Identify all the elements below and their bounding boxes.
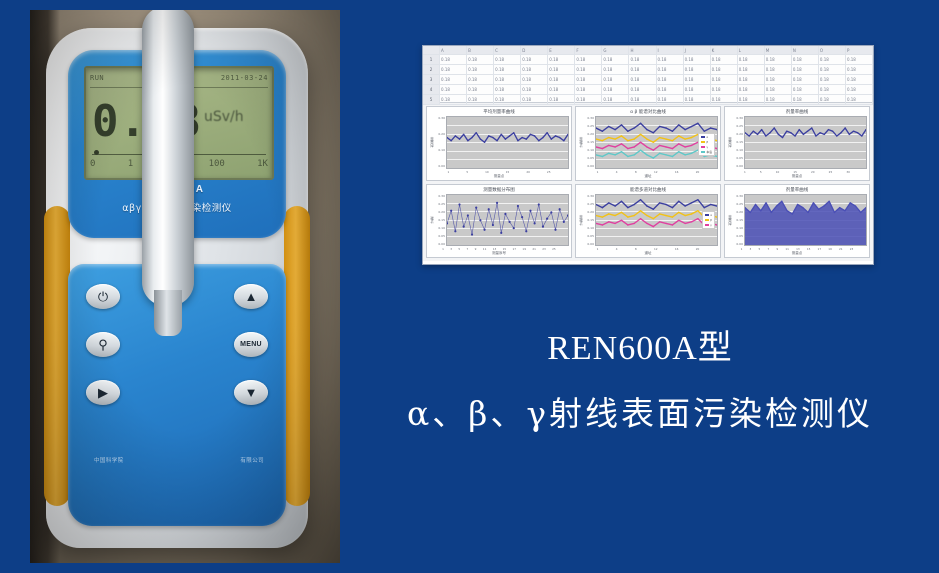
- spreadsheet-cell[interactable]: 0.18: [765, 55, 792, 64]
- spreadsheet-cell[interactable]: 0.18: [440, 65, 467, 74]
- chart-y-ticks: 0.300.200.100.00: [434, 116, 446, 169]
- chart-point: [653, 208, 654, 210]
- spreadsheet-column-header[interactable]: G: [602, 46, 629, 54]
- chart-point: [492, 137, 493, 139]
- chart-point: [526, 138, 527, 140]
- chart-point: [684, 222, 685, 224]
- chart-point: [849, 134, 850, 136]
- chart-point: [475, 132, 476, 134]
- chart-y-tick: 0.10: [583, 148, 594, 152]
- chart-y-tick: 0.00: [583, 164, 594, 168]
- chart-point: [621, 124, 622, 126]
- spreadsheet-cell[interactable]: 0.18: [575, 95, 602, 104]
- chart-point: [653, 132, 654, 134]
- chart-legend-item: β: [705, 218, 712, 222]
- chart-point: [513, 132, 514, 134]
- chart-point: [640, 217, 641, 219]
- chart-legend-label: α: [706, 135, 708, 139]
- chart-y-tick: 0.10: [732, 148, 743, 152]
- spreadsheet-row-header[interactable]: 5: [423, 95, 440, 104]
- chart-point: [509, 135, 510, 137]
- spreadsheet-cell[interactable]: 0.18: [657, 85, 684, 94]
- spreadsheet-cell[interactable]: 0.18: [684, 85, 711, 94]
- chart-point: [621, 135, 622, 137]
- spreadsheet-cell[interactable]: 0.18: [629, 55, 656, 64]
- chart-point: [602, 148, 603, 150]
- chart-point: [640, 198, 641, 200]
- chart-legend-item: γ: [705, 223, 712, 227]
- chart-y-tick: 0.00: [583, 242, 594, 246]
- chart-point: [797, 203, 798, 205]
- chart-body: 计数0.300.250.200.150.100.050.00: [427, 193, 571, 248]
- spreadsheet-column-header[interactable]: F: [575, 46, 602, 54]
- spreadsheet-row-header[interactable]: 4: [423, 85, 440, 94]
- spreadsheet-cell[interactable]: 0.18: [440, 55, 467, 64]
- spreadsheet-cell[interactable]: 0.18: [494, 75, 521, 84]
- chart-point: [542, 137, 543, 139]
- chart-point: [646, 129, 647, 131]
- spreadsheet-cell[interactable]: 0.18: [629, 95, 656, 104]
- chart-point: [778, 134, 779, 136]
- chart-plot-area: [446, 194, 569, 247]
- spreadsheet-cell[interactable]: 0.18: [711, 55, 738, 64]
- spreadsheet-cell[interactable]: 0.18: [792, 95, 819, 104]
- spreadsheet-cell[interactable]: 0.18: [602, 95, 629, 104]
- chart-series-svg: [745, 195, 866, 246]
- spreadsheet-column-header[interactable]: B: [467, 46, 494, 54]
- chart-plot-area: αβγ本底: [595, 116, 718, 169]
- spreadsheet-cell[interactable]: 0.18: [575, 75, 602, 84]
- chart-card[interactable]: 剂量率曲线剂量率0.300.250.200.150.100.050.001357…: [724, 184, 870, 259]
- chart-point: [621, 211, 622, 213]
- chart-point: [697, 123, 698, 125]
- chart-point: [614, 138, 615, 140]
- chart-point: [633, 146, 634, 148]
- chart-point: [602, 206, 603, 208]
- chart-point: [757, 134, 758, 136]
- spreadsheet-header-row: ABCDEFGHIJKLMNOP: [423, 46, 873, 55]
- spreadsheet-cell[interactable]: 0.18: [792, 65, 819, 74]
- chart-point: [776, 205, 777, 207]
- spreadsheet-column-header[interactable]: I: [657, 46, 684, 54]
- spreadsheet-cell[interactable]: 0.18: [440, 95, 467, 104]
- chart-point: [769, 132, 770, 134]
- chart-point: [672, 130, 673, 132]
- chart-point: [653, 141, 654, 143]
- chart-line: [596, 199, 717, 208]
- spreadsheet-cell[interactable]: 0.18: [711, 85, 738, 94]
- chart-point: [691, 221, 692, 223]
- spreadsheet-column-header[interactable]: M: [765, 46, 792, 54]
- chart-point: [813, 202, 814, 204]
- spreadsheet-cell[interactable]: 0.18: [494, 95, 521, 104]
- spreadsheet-cell[interactable]: 0.18: [738, 95, 765, 104]
- spreadsheet-row: 30.180.180.180.180.180.180.180.180.180.1…: [423, 75, 873, 85]
- chart-card[interactable]: 能谱多道对比曲线计数率0.300.250.200.150.100.050.00α…: [575, 184, 721, 259]
- spreadsheet-column-header[interactable]: C: [494, 46, 521, 54]
- chart-x-axis-label: 测量序号: [427, 251, 571, 257]
- spreadsheet-cell[interactable]: 0.18: [657, 95, 684, 104]
- chart-point: [665, 203, 666, 205]
- chart-point: [697, 210, 698, 212]
- chart-y-tick: 0.30: [583, 194, 594, 198]
- chart-point: [538, 140, 539, 142]
- spreadsheet-cell[interactable]: 0.18: [819, 95, 846, 104]
- chart-point: [834, 211, 835, 213]
- chart-legend-label: 本底: [706, 150, 712, 154]
- chart-y-tick: 0.20: [434, 210, 445, 214]
- chart-legend-swatch: [705, 214, 709, 216]
- spreadsheet-cell[interactable]: 0.18: [684, 55, 711, 64]
- chart-point: [633, 127, 634, 129]
- spreadsheet-cell[interactable]: 0.18: [684, 75, 711, 84]
- chart-title: 能谱多道对比曲线: [576, 185, 720, 193]
- chart-legend-label: γ: [706, 145, 708, 149]
- spreadsheet-cell[interactable]: 0.18: [575, 65, 602, 74]
- chart-point: [781, 200, 782, 202]
- spreadsheet-cell[interactable]: 0.18: [521, 75, 548, 84]
- chart-y-tick: 0.10: [434, 226, 445, 230]
- chart-point: [653, 157, 654, 159]
- spreadsheet-column-header[interactable]: D: [521, 46, 548, 54]
- chart-point: [608, 213, 609, 215]
- chart-point: [640, 149, 641, 151]
- spreadsheet-cell[interactable]: 0.18: [602, 85, 629, 94]
- spreadsheet-cell[interactable]: 0.18: [819, 85, 846, 94]
- chart-legend-label: γ: [710, 223, 712, 227]
- chart-point: [855, 205, 856, 207]
- chart-point: [678, 219, 679, 221]
- chart-y-tick: 0.25: [583, 124, 594, 128]
- chart-series-svg: [745, 117, 866, 168]
- chart-point: [672, 206, 673, 208]
- chart-point: [672, 224, 673, 226]
- chart-point: [633, 222, 634, 224]
- chart-point: [602, 140, 603, 142]
- spreadsheet-cell[interactable]: 0.18: [602, 55, 629, 64]
- chart-title: 剂量率曲线: [725, 107, 869, 115]
- spreadsheet-cell[interactable]: 0.18: [629, 65, 656, 74]
- spreadsheet-cell[interactable]: 0.18: [440, 75, 467, 84]
- chart-point: [840, 132, 841, 134]
- chart-body: 剂量率0.300.250.200.150.100.050.00: [725, 115, 869, 170]
- chart-y-tick: 0.20: [583, 132, 594, 136]
- spreadsheet-cell[interactable]: 0.18: [440, 85, 467, 94]
- chart-point: [678, 135, 679, 137]
- chart-y-tick: 0.10: [434, 148, 445, 152]
- chart-point: [782, 137, 783, 139]
- spreadsheet-cell[interactable]: 0.18: [738, 75, 765, 84]
- chart-point: [665, 154, 666, 156]
- chart-legend-item: γ: [701, 145, 712, 149]
- chart-point: [659, 126, 660, 128]
- chart-point: [633, 154, 634, 156]
- spreadsheet-cell[interactable]: 0.18: [467, 85, 494, 94]
- chart-point: [697, 198, 698, 200]
- chart-y-tick: 0.10: [732, 226, 743, 230]
- spreadsheet-cell[interactable]: 0.18: [846, 95, 873, 104]
- chart-point: [799, 129, 800, 131]
- spreadsheet-cell[interactable]: 0.18: [711, 65, 738, 74]
- chart-point: [684, 129, 685, 131]
- spreadsheet-cell[interactable]: 0.18: [657, 55, 684, 64]
- chart-y-ticks: 0.300.250.200.150.100.050.00: [583, 194, 595, 247]
- spreadsheet-column-header[interactable]: L: [738, 46, 765, 54]
- chart-point: [627, 224, 628, 226]
- spreadsheet-cell[interactable]: 0.18: [602, 75, 629, 84]
- chart-point: [653, 217, 654, 219]
- spreadsheet-cell[interactable]: 0.18: [575, 85, 602, 94]
- chart-y-tick: 0.20: [434, 132, 445, 136]
- spreadsheet-column-header[interactable]: K: [711, 46, 738, 54]
- chart-point: [659, 202, 660, 204]
- chart-point: [704, 206, 705, 208]
- chart-line: [447, 133, 568, 142]
- chart-y-tick: 0.05: [583, 234, 594, 238]
- chart-point: [748, 135, 749, 137]
- chart-x-axis-label: 测量点: [725, 174, 869, 180]
- chart-point: [627, 216, 628, 218]
- chart-plot-area: [446, 116, 569, 169]
- chart-point: [614, 129, 615, 131]
- chart-point: [665, 214, 666, 216]
- chart-point: [559, 137, 560, 139]
- chart-point: [678, 124, 679, 126]
- spreadsheet-cell[interactable]: 0.18: [792, 85, 819, 94]
- chart-point: [627, 148, 628, 150]
- spreadsheet-row: 40.180.180.180.180.180.180.180.180.180.1…: [423, 85, 873, 95]
- spreadsheet-row: 50.180.180.180.180.180.180.180.180.180.1…: [423, 95, 873, 105]
- chart-title: 测量数据分布图: [427, 185, 571, 193]
- chart-point: [450, 140, 451, 142]
- spreadsheet-cell[interactable]: 0.18: [657, 75, 684, 84]
- chart-point: [608, 153, 609, 155]
- chart-point: [653, 225, 654, 227]
- spreadsheet-cell[interactable]: 0.18: [819, 65, 846, 74]
- chart-legend: αβγ: [702, 211, 715, 229]
- chart-point: [794, 135, 795, 137]
- spreadsheet-cell[interactable]: 0.18: [575, 55, 602, 64]
- chart-point: [608, 221, 609, 223]
- chart-point: [803, 134, 804, 136]
- chart-y-tick: 0.00: [434, 242, 445, 246]
- chart-point: [534, 135, 535, 137]
- spreadsheet-cell[interactable]: 0.18: [548, 65, 575, 74]
- chart-plot-area: [744, 194, 867, 247]
- spreadsheet-cell[interactable]: 0.18: [629, 75, 656, 84]
- chart-body: 剂量率0.300.200.100.00: [427, 115, 571, 170]
- chart-point: [463, 134, 464, 136]
- chart-y-tick: 0.15: [583, 140, 594, 144]
- chart-y-tick: 0.00: [434, 164, 445, 168]
- chart-x-axis-label: 道址: [576, 251, 720, 257]
- spreadsheet-column-header[interactable]: P: [846, 46, 873, 54]
- spreadsheet-cell[interactable]: 0.18: [792, 75, 819, 84]
- chart-point: [811, 127, 812, 129]
- spreadsheet-cell[interactable]: 0.18: [711, 75, 738, 84]
- chart-point: [857, 132, 858, 134]
- chart-point: [640, 210, 641, 212]
- spreadsheet-cell[interactable]: 0.18: [765, 65, 792, 74]
- spreadsheet-column-header[interactable]: O: [819, 46, 846, 54]
- chart-point: [832, 130, 833, 132]
- spreadsheet-cell[interactable]: 0.18: [738, 65, 765, 74]
- chart-point: [691, 202, 692, 204]
- chart-legend-item: 本底: [701, 150, 712, 154]
- chart-card[interactable]: 平均剂量率曲线剂量率0.300.200.100.001510152025测量点: [426, 106, 572, 181]
- chart-y-tick: 0.30: [434, 194, 445, 198]
- spreadsheet-cell[interactable]: 0.18: [819, 55, 846, 64]
- spreadsheet-cell[interactable]: 0.18: [684, 95, 711, 104]
- chart-line: [596, 123, 717, 132]
- chart-y-tick: 0.15: [434, 218, 445, 222]
- spreadsheet-cell[interactable]: 0.18: [846, 75, 873, 84]
- chart-point: [860, 211, 861, 213]
- spreadsheet-row-header[interactable]: 2: [423, 65, 440, 74]
- chart-point: [672, 216, 673, 218]
- spreadsheet-cell[interactable]: 0.18: [548, 75, 575, 84]
- chart-card[interactable]: α β 能谱对比曲线计数率0.300.250.200.150.100.050.0…: [575, 106, 721, 181]
- chart-legend-item: β: [701, 140, 712, 144]
- chart-y-tick: 0.00: [732, 242, 743, 246]
- chart-point: [621, 200, 622, 202]
- spreadsheet-corner: [423, 46, 440, 54]
- chart-point: [551, 138, 552, 140]
- spreadsheet-cell[interactable]: 0.18: [494, 65, 521, 74]
- chart-grid: 平均剂量率曲线剂量率0.300.200.100.001510152025测量点α…: [423, 103, 873, 261]
- chart-point: [678, 211, 679, 213]
- chart-point: [640, 123, 641, 125]
- chart-point: [665, 138, 666, 140]
- chart-point: [563, 140, 564, 142]
- chart-point: [484, 141, 485, 143]
- poster-canvas: RUN 2011-03-24 0.18 uSv/h 0 1 10 100: [0, 0, 939, 573]
- spreadsheet-cell[interactable]: 0.18: [467, 75, 494, 84]
- spreadsheet-column-header[interactable]: N: [792, 46, 819, 54]
- spreadsheet-cell[interactable]: 0.18: [548, 55, 575, 64]
- spreadsheet-cell[interactable]: 0.18: [819, 75, 846, 84]
- chart-legend-item: α: [705, 213, 712, 217]
- chart-point: [501, 134, 502, 136]
- chart-point: [786, 210, 787, 212]
- chart-card[interactable]: 测量数据分布图计数0.300.250.200.150.100.050.00135…: [426, 184, 572, 259]
- spreadsheet-cell[interactable]: 0.18: [765, 85, 792, 94]
- spreadsheet-cell[interactable]: 0.18: [711, 95, 738, 104]
- chart-body: 计数率0.300.250.200.150.100.050.00αβγ: [576, 193, 720, 248]
- spreadsheet-row-header[interactable]: 3: [423, 75, 440, 84]
- spreadsheet-cell[interactable]: 0.18: [467, 95, 494, 104]
- spreadsheet-cell[interactable]: 0.18: [494, 55, 521, 64]
- spreadsheet-cell[interactable]: 0.18: [548, 95, 575, 104]
- chart-point: [765, 202, 766, 204]
- chart-point: [771, 211, 772, 213]
- spreadsheet-grid: ABCDEFGHIJKLMNOP10.180.180.180.180.180.1…: [423, 46, 873, 103]
- product-photo: RUN 2011-03-24 0.18 uSv/h 0 1 10 100: [30, 10, 340, 563]
- caption-line-1: REN600A型: [360, 320, 920, 369]
- chart-point: [614, 154, 615, 156]
- chart-point: [755, 203, 756, 205]
- spreadsheet-cell[interactable]: 0.18: [846, 55, 873, 64]
- chart-y-tick: 0.00: [732, 164, 743, 168]
- spreadsheet-cell[interactable]: 0.18: [494, 85, 521, 94]
- spreadsheet-row: 20.180.180.180.180.180.180.180.180.180.1…: [423, 65, 873, 75]
- chart-point: [672, 140, 673, 142]
- spreadsheet-column-header[interactable]: A: [440, 46, 467, 54]
- spreadsheet-row-header[interactable]: 1: [423, 55, 440, 64]
- chart-point: [684, 154, 685, 156]
- chart-y-tick: 0.25: [732, 202, 743, 206]
- chart-y-tick: 0.05: [732, 156, 743, 160]
- chart-line: [596, 210, 717, 218]
- spreadsheet-cell[interactable]: 0.18: [765, 95, 792, 104]
- spreadsheet-cell[interactable]: 0.18: [657, 65, 684, 74]
- chart-point: [691, 153, 692, 155]
- spreadsheet-cell[interactable]: 0.18: [467, 55, 494, 64]
- spreadsheet-column-header[interactable]: H: [629, 46, 656, 54]
- spreadsheet-cell[interactable]: 0.18: [521, 85, 548, 94]
- spreadsheet-cell[interactable]: 0.18: [846, 65, 873, 74]
- chart-point: [802, 206, 803, 208]
- chart-point: [633, 214, 634, 216]
- chart-title: 剂量率曲线: [725, 185, 869, 193]
- chart-x-axis-label: 测量点: [427, 174, 571, 180]
- chart-point: [824, 134, 825, 136]
- chart-y-tick: 0.05: [434, 234, 445, 238]
- chart-plot-area: [744, 116, 867, 169]
- chart-y-tick: 0.25: [732, 124, 743, 128]
- chart-series-svg: [447, 117, 568, 168]
- chart-point: [640, 141, 641, 143]
- chart-point: [467, 140, 468, 142]
- spreadsheet-column-header[interactable]: E: [548, 46, 575, 54]
- chart-point: [659, 221, 660, 223]
- spreadsheet-cell[interactable]: 0.18: [684, 65, 711, 74]
- chart-point: [659, 137, 660, 139]
- chart-point: [614, 205, 615, 207]
- poster-caption: REN600A型 α、β、γ射线表面污染检测仪: [360, 320, 920, 435]
- spreadsheet-column-header[interactable]: J: [684, 46, 711, 54]
- chart-point: [546, 132, 547, 134]
- spreadsheet-cell[interactable]: 0.18: [548, 85, 575, 94]
- chart-y-tick: 0.20: [583, 210, 594, 214]
- chart-point: [773, 127, 774, 129]
- chart-card[interactable]: 剂量率曲线剂量率0.300.250.200.150.100.050.001510…: [724, 106, 870, 181]
- chart-point: [646, 154, 647, 156]
- spreadsheet-cell[interactable]: 0.18: [738, 85, 765, 94]
- spreadsheet-cell[interactable]: 0.18: [521, 65, 548, 74]
- spreadsheet-cell[interactable]: 0.18: [765, 75, 792, 84]
- chart-point: [678, 200, 679, 202]
- spreadsheet-cell[interactable]: 0.18: [521, 55, 548, 64]
- chart-point: [496, 140, 497, 142]
- spreadsheet-cell[interactable]: 0.18: [467, 65, 494, 74]
- chart-point: [710, 127, 711, 129]
- chart-point: [853, 130, 854, 132]
- chart-legend-swatch: [701, 136, 705, 138]
- chart-point: [818, 208, 819, 210]
- chart-point: [665, 222, 666, 224]
- chart-point: [760, 210, 761, 212]
- chart-point: [839, 206, 840, 208]
- chart-point: [828, 200, 829, 202]
- spreadsheet-cell[interactable]: 0.18: [629, 85, 656, 94]
- spreadsheet-cell[interactable]: 0.18: [738, 55, 765, 64]
- spreadsheet-cell[interactable]: 0.18: [792, 55, 819, 64]
- spreadsheet-cell[interactable]: 0.18: [602, 65, 629, 74]
- chart-point: [807, 211, 808, 213]
- spreadsheet-cell[interactable]: 0.18: [846, 85, 873, 94]
- spreadsheet-cell[interactable]: 0.18: [521, 95, 548, 104]
